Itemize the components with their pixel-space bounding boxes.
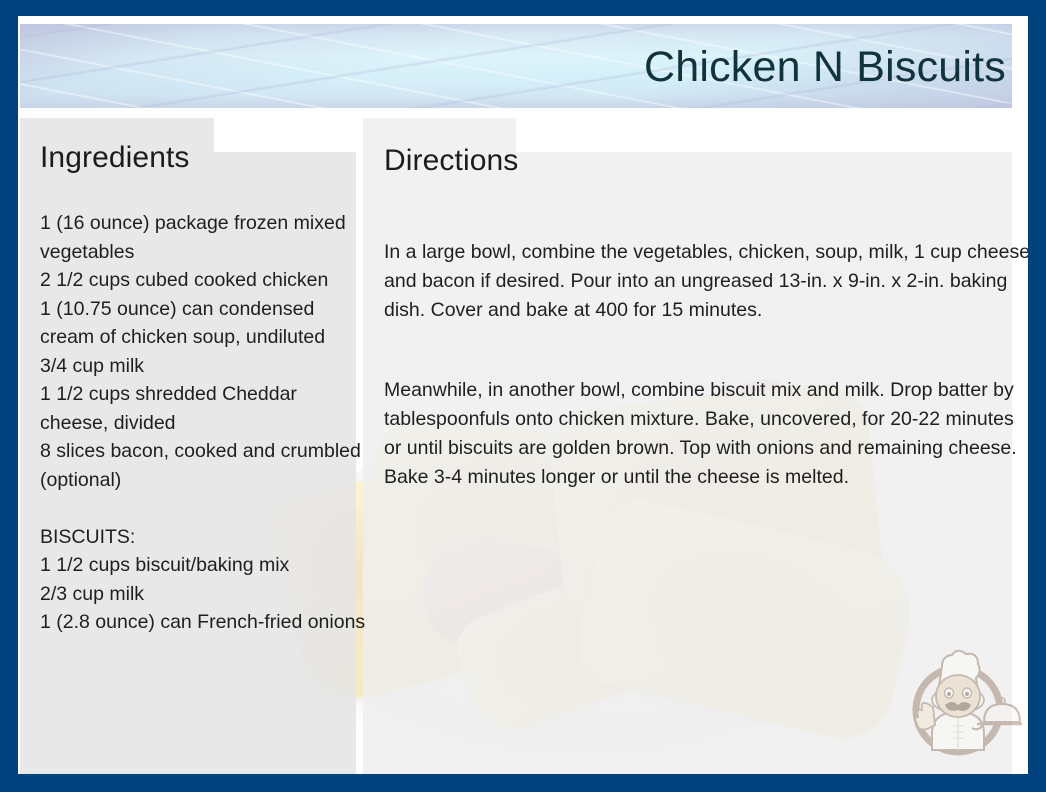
chef-logo-icon bbox=[898, 638, 1022, 762]
recipe-card-inner: Chicken N Biscuits Ingredients 1 (16 oun… bbox=[18, 16, 1028, 774]
ingredients-list: 1 (16 ounce) package frozen mixed vegeta… bbox=[40, 209, 370, 637]
recipe-card: Chicken N Biscuits Ingredients 1 (16 oun… bbox=[0, 0, 1046, 792]
directions-paragraph: Meanwhile, in another bowl, combine bisc… bbox=[384, 376, 1028, 492]
directions-heading: Directions bbox=[384, 146, 518, 176]
directions-paragraph: In a large bowl, combine the vegetables,… bbox=[384, 238, 1028, 325]
directions-heading-notch bbox=[516, 118, 1012, 152]
directions-body: In a large bowl, combine the vegetables,… bbox=[384, 209, 1028, 521]
page-title: Chicken N Biscuits bbox=[644, 46, 1006, 89]
ingredients-heading-notch bbox=[214, 118, 356, 152]
ingredients-heading: Ingredients bbox=[40, 143, 190, 173]
